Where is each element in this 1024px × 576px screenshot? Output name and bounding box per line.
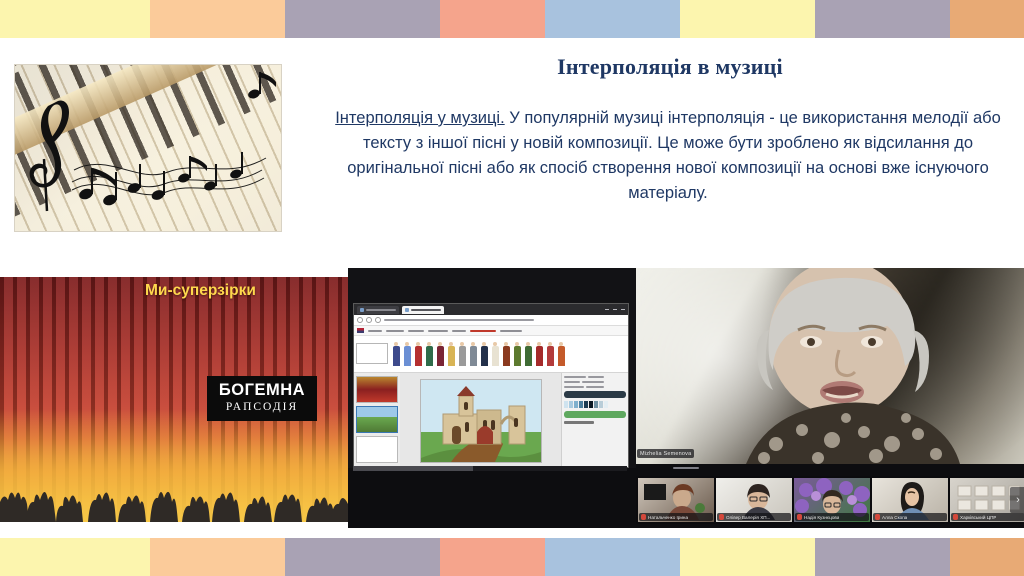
tab-title-1	[366, 309, 396, 311]
confirm-button[interactable]	[564, 411, 626, 418]
speaker-name-label: Mizhelia Semenova	[637, 449, 694, 458]
menu-active[interactable]	[470, 330, 496, 332]
menu-edit[interactable]	[386, 330, 404, 332]
sprite-11[interactable]	[501, 342, 511, 370]
minimize-icon[interactable]	[605, 309, 609, 310]
sprite-13[interactable]	[523, 342, 533, 370]
slide-thumbnail-1[interactable]	[356, 376, 398, 403]
menu-insert[interactable]	[428, 330, 448, 332]
page-title: Інтерполяція в музиці	[330, 54, 1010, 80]
browser-tab-1[interactable]	[357, 306, 399, 314]
menu-tools[interactable]	[500, 330, 522, 332]
properties-panel[interactable]	[561, 373, 628, 468]
canvas-stage[interactable]	[400, 373, 561, 468]
color-swatches[interactable]	[564, 401, 626, 408]
top-decor-strip	[0, 0, 1024, 38]
sprite-15[interactable]	[545, 342, 555, 370]
active-speaker-video[interactable]: Mizhelia Semenova	[636, 268, 1024, 464]
participant-name-row: Олівер Валерія ХП...	[717, 513, 791, 521]
back-icon[interactable]	[357, 317, 363, 323]
language-flag-icon[interactable]	[357, 328, 364, 333]
insert-button[interactable]	[356, 343, 388, 364]
slide-thumbnail-3[interactable]	[356, 436, 398, 463]
window-controls[interactable]	[605, 309, 625, 310]
mic-muted-icon	[719, 514, 724, 520]
panel-drag-handle[interactable]	[673, 467, 699, 469]
top-decor-block-mauve	[285, 0, 440, 38]
top-decor-block-orange	[950, 0, 1024, 38]
panel-row-slider[interactable]	[564, 421, 626, 424]
browser-address-bar[interactable]	[354, 315, 628, 326]
participant-name-row: Алла Скопа	[873, 513, 947, 521]
participant-tile[interactable]: Натальченко Ірина	[638, 478, 714, 522]
bohemian-rhapsody-banner: БОГЕМНА РАПСОДІЯ	[207, 376, 317, 421]
menu-format[interactable]	[452, 330, 466, 332]
sprite-10[interactable]	[490, 342, 500, 370]
sprite-6[interactable]	[446, 342, 456, 370]
sprite-3[interactable]	[413, 342, 423, 370]
slide-thumbnail-2[interactable]	[356, 406, 398, 433]
apply-button[interactable]	[564, 391, 626, 398]
bottom-decor-strip	[0, 538, 1024, 576]
presentation-slide: Інтерполяція в музиці Інтерполяція у муз…	[0, 0, 1024, 576]
screen-share-panel	[348, 268, 636, 468]
bottom-decor-block-mauve2	[815, 538, 950, 576]
top-decor-block-yellow2	[680, 0, 815, 38]
participant-name-row: Надія Кузнєцова	[795, 513, 869, 521]
sprite-1[interactable]	[391, 342, 401, 370]
slide-thumbnail-list[interactable]	[354, 373, 400, 468]
bottom-decor-block-mauve	[285, 538, 440, 576]
sprite-14[interactable]	[534, 342, 544, 370]
sprite-16[interactable]	[556, 342, 566, 370]
panel-row-color[interactable]	[564, 381, 626, 383]
bottom-decor-block-blue	[545, 538, 680, 576]
participant-tile[interactable]: Надія Кузнєцова	[794, 478, 870, 522]
participant-tile[interactable]: Алла Скопа	[872, 478, 948, 522]
participant-name-row: Харківський ЦПР	[951, 513, 1024, 521]
top-decor-block-peach	[150, 0, 285, 38]
character-sprite-toolbar[interactable]	[354, 336, 628, 373]
next-participants-arrow[interactable]: ›	[1010, 487, 1024, 513]
app-menu-bar[interactable]	[354, 326, 628, 336]
sprite-12[interactable]	[512, 342, 522, 370]
sprite-2[interactable]	[402, 342, 412, 370]
speaker-portrait	[636, 268, 1024, 464]
panel-row-transform[interactable]	[564, 376, 626, 378]
crowd-silhouette	[0, 452, 348, 522]
sprite-8[interactable]	[468, 342, 478, 370]
video-conference-screenshot: Mizhelia Semenova Натальченко Ірина	[348, 268, 1024, 528]
piano-image-border	[14, 64, 282, 232]
participant-name: Харківський ЦПР	[960, 515, 996, 520]
forward-icon[interactable]	[366, 317, 372, 323]
top-decor-block-mauve2	[815, 0, 950, 38]
participant-name: Олівер Валерія ХП...	[726, 515, 770, 520]
mic-muted-icon	[953, 514, 958, 520]
superstars-caption: Ми-суперзірки	[145, 282, 256, 300]
top-decor-block-salmon	[440, 0, 545, 38]
sprite-5[interactable]	[435, 342, 445, 370]
sprite-4[interactable]	[424, 342, 434, 370]
participant-name: Надія Кузнєцова	[804, 515, 839, 520]
participant-filmstrip[interactable]: Натальченко Ірина Олівер Валерія ХП...	[636, 476, 1024, 524]
mic-muted-icon	[797, 514, 802, 520]
tab-title-2	[411, 309, 441, 311]
banner-line-1: БОГЕМНА	[219, 382, 305, 399]
browser-tab-2[interactable]	[402, 306, 444, 314]
url-text	[384, 319, 534, 321]
sprite-7[interactable]	[457, 342, 467, 370]
horizontal-scrollbar[interactable]	[353, 466, 627, 471]
participant-name-row: Натальченко Ірина	[639, 513, 713, 521]
scrollbar-thumb[interactable]	[353, 466, 473, 471]
browser-window	[353, 303, 629, 468]
bottom-decor-block-peach	[150, 538, 285, 576]
body-lead-term: Інтерполяція у музиці.	[335, 109, 504, 127]
maximize-icon[interactable]	[613, 309, 617, 310]
menu-file[interactable]	[368, 330, 382, 332]
participant-name: Натальченко Ірина	[648, 515, 688, 520]
tab-favicon	[405, 308, 409, 312]
sprite-9[interactable]	[479, 342, 489, 370]
bottom-decor-block-salmon	[440, 538, 545, 576]
participant-tile[interactable]: Олівер Валерія ХП...	[716, 478, 792, 522]
top-decor-block-yellow	[0, 0, 150, 38]
close-icon[interactable]	[621, 309, 625, 310]
body-paragraph: Інтерполяція у музиці. У популярній музи…	[318, 106, 1018, 206]
bottom-decor-block-yellow	[0, 538, 150, 576]
castle-illustration	[420, 379, 542, 463]
top-decor-block-blue	[545, 0, 680, 38]
mic-muted-icon	[875, 514, 880, 520]
participant-name: Алла Скопа	[882, 515, 907, 520]
banner-line-2: РАПСОДІЯ	[226, 399, 298, 415]
reload-icon[interactable]	[375, 317, 381, 323]
browser-tab-bar[interactable]	[354, 304, 628, 315]
editor-workspace	[354, 373, 628, 468]
piano-music-image	[14, 64, 282, 232]
panel-row-border[interactable]	[564, 386, 626, 388]
menu-view[interactable]	[408, 330, 424, 332]
bottom-decor-block-yellow2	[680, 538, 815, 576]
tab-favicon	[360, 308, 364, 312]
bottom-decor-block-orange	[950, 538, 1024, 576]
mic-muted-icon	[641, 514, 646, 520]
